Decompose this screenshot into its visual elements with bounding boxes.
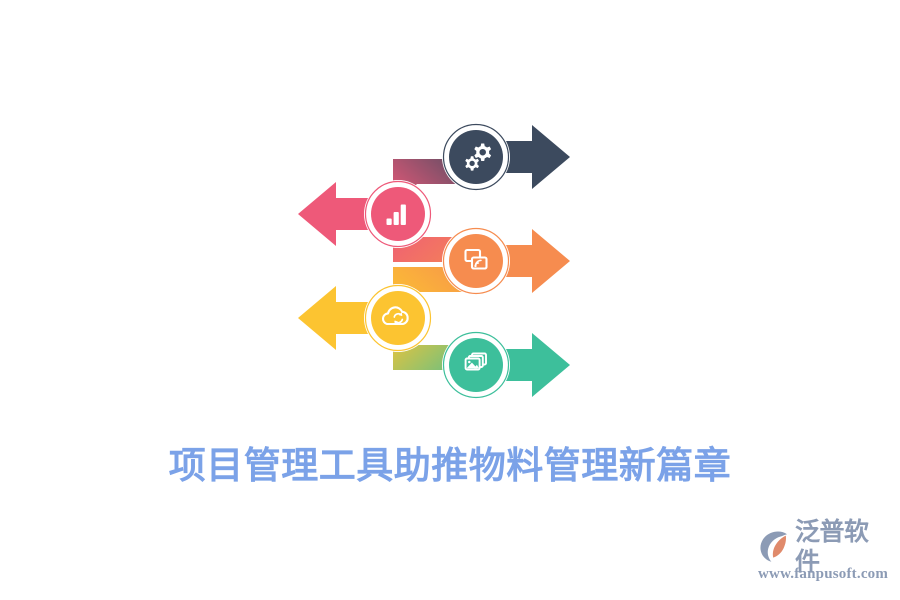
node-chart[interactable] <box>364 180 432 248</box>
watermark-brand-row: 泛普软件 <box>758 530 888 564</box>
node-cloud-disc <box>371 291 425 345</box>
photo-gallery-icon <box>466 354 486 370</box>
page-canvas: 项目管理工具助推物料管理新篇章 泛普软件 www.fanpusoft.com <box>0 0 900 600</box>
watermark-url-text: www.fanpusoft.com <box>758 564 888 584</box>
node-settings[interactable] <box>442 123 510 191</box>
fanpu-c-logo-icon <box>758 530 792 564</box>
node-cast[interactable] <box>442 227 510 295</box>
watermark-logo: 泛普软件 www.fanpusoft.com <box>758 530 888 588</box>
process-infographic <box>280 108 590 408</box>
page-title: 项目管理工具助推物料管理新篇章 <box>0 438 900 494</box>
node-cloud[interactable] <box>364 284 432 352</box>
node-gallery[interactable] <box>442 331 510 399</box>
